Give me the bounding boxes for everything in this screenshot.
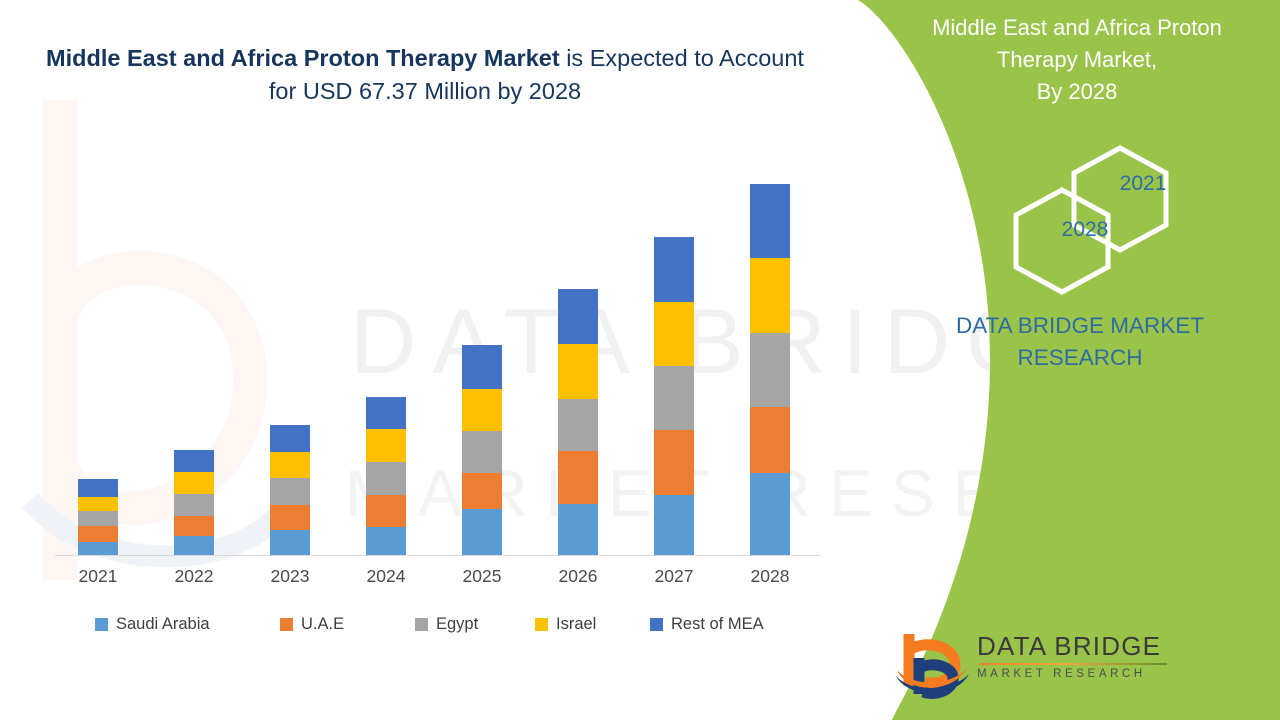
bar-segment [750,184,790,258]
bar-segment [78,511,118,526]
x-axis-label-2021: 2021 [58,566,138,587]
hexagon-label-2028: 2028 [1040,218,1130,242]
legend-swatch-icon [95,618,108,631]
bar-segment [558,289,598,344]
bar-2028 [750,184,790,555]
green-side-panel: Middle East and Africa Proton Therapy Ma… [840,0,1280,720]
bar-segment [750,258,790,333]
bar-segment [270,425,310,452]
bar-segment [366,527,406,555]
bar-2022 [174,450,214,555]
chart-panel: Middle East and Africa Proton Therapy Ma… [0,0,860,720]
hexagon-label-2021: 2021 [1098,172,1188,196]
bar-segment [462,431,502,473]
bar-segment [174,494,214,516]
logo-text-sub: MARKET RESEARCH [977,668,1182,680]
bar-segment [174,516,214,536]
legend-swatch-icon [535,618,548,631]
legend-label: Rest of MEA [671,615,764,634]
legend-item-u-a-e[interactable]: U.A.E [280,615,344,634]
bar-segment [78,542,118,555]
company-logo: DATA BRIDGE MARKET RESEARCH [895,628,1185,700]
green-title-line-1: Middle East and Africa Proton [882,12,1272,44]
x-axis-label-2027: 2027 [634,566,714,587]
logo-text-main: DATA BRIDGE [977,632,1182,661]
bar-2026 [558,289,598,555]
bar-segment [654,430,694,495]
green-title-line-3: By 2028 [882,76,1272,108]
logo-text: DATA BRIDGE MARKET RESEARCH [977,632,1182,680]
x-axis-label-2025: 2025 [442,566,522,587]
brand-name-line-2: RESEARCH [890,342,1270,374]
legend-label: U.A.E [301,615,344,634]
bar-segment [462,345,502,389]
bar-2023 [270,425,310,555]
bar-segment [654,495,694,555]
brand-name: DATA BRIDGE MARKET RESEARCH [890,310,1270,374]
legend-item-rest-of-mea[interactable]: Rest of MEA [650,615,764,634]
brand-name-line-1: DATA BRIDGE MARKET [890,310,1270,342]
stacked-bar-chart [0,0,860,720]
data-bridge-logo-icon [895,628,973,700]
green-panel-title: Middle East and Africa Proton Therapy Ma… [882,12,1272,108]
legend-swatch-icon [415,618,428,631]
infographic-canvas: DATA BRIDGE MARKET RESEARCH Middle East … [0,0,1280,720]
bar-segment [750,407,790,473]
legend-label: Egypt [436,615,478,634]
logo-divider [979,663,1167,665]
bar-segment [270,505,310,530]
bar-segment [366,397,406,429]
hexagon-group: 2021 2028 [970,140,1230,300]
bar-2025 [462,345,502,555]
bar-2024 [366,397,406,555]
bar-segment [270,478,310,505]
bar-segment [654,366,694,430]
x-axis-label-2028: 2028 [730,566,810,587]
legend-swatch-icon [650,618,663,631]
bar-segment [462,389,502,431]
bar-segment [462,473,502,509]
bar-segment [750,473,790,555]
bar-segment [654,237,694,302]
bar-segment [558,504,598,555]
bar-segment [270,452,310,478]
bar-segment [78,497,118,511]
bar-segment [174,450,214,472]
bar-segment [366,462,406,495]
bar-segment [78,479,118,497]
legend-item-israel[interactable]: Israel [535,615,596,634]
chart-legend: Saudi ArabiaU.A.EEgyptIsraelRest of MEA [95,615,795,639]
bar-segment [558,451,598,504]
x-axis-label-2026: 2026 [538,566,618,587]
bar-segment [174,536,214,555]
bar-segment [78,526,118,542]
bar-segment [366,495,406,527]
bar-segment [750,333,790,407]
green-title-line-2: Therapy Market, [882,44,1272,76]
bar-2021 [78,479,118,555]
bar-segment [462,509,502,555]
legend-item-egypt[interactable]: Egypt [415,615,478,634]
green-panel-content: Middle East and Africa Proton Therapy Ma… [840,0,1280,720]
bar-segment [558,399,598,451]
legend-label: Israel [556,615,596,634]
x-axis-label-2022: 2022 [154,566,234,587]
x-axis-labels: 20212022202320242025202620272028 [0,566,860,594]
bar-segment [366,429,406,462]
legend-swatch-icon [280,618,293,631]
legend-item-saudi-arabia[interactable]: Saudi Arabia [95,615,210,634]
bar-segment [654,302,694,366]
x-axis-label-2023: 2023 [250,566,330,587]
x-axis-line [55,555,820,556]
bar-2027 [654,237,694,555]
bar-segment [558,344,598,399]
bar-segment [174,472,214,494]
bar-segment [270,530,310,555]
legend-label: Saudi Arabia [116,615,210,634]
x-axis-label-2024: 2024 [346,566,426,587]
